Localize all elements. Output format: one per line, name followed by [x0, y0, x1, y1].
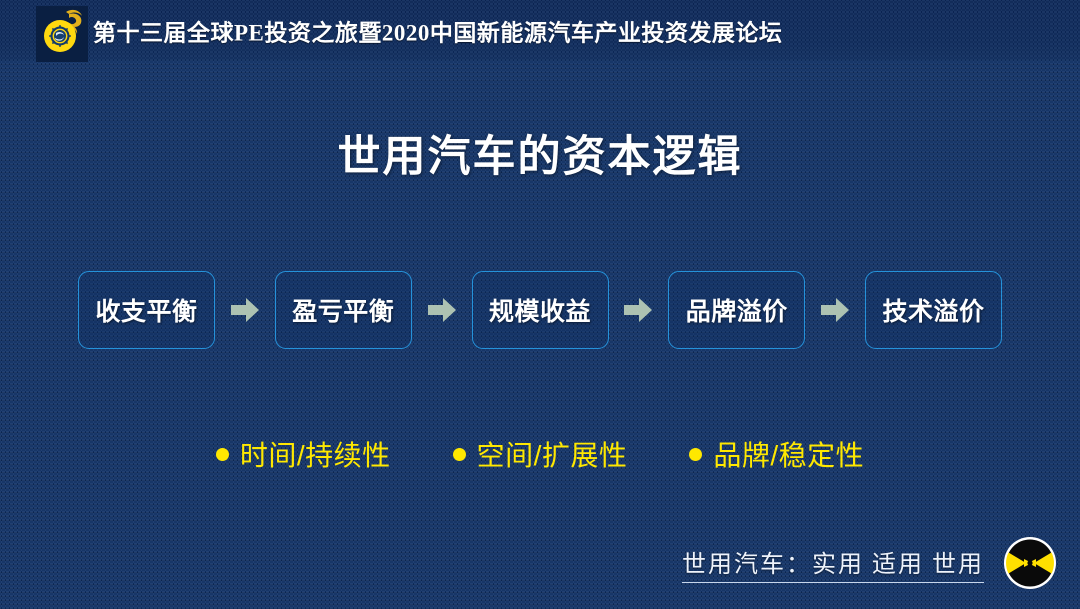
capital-logic-flow: 收支平衡 盈亏平衡 规模收益 品牌溢价 技术溢价 — [78, 271, 1002, 349]
right-block-arrow-icon — [819, 295, 851, 325]
dragon-sun-logo-icon — [36, 6, 88, 62]
slide-canvas: 第十三届全球PE投资之旅暨2020中国新能源汽车产业投资发展论坛 世用汽车的资本… — [0, 0, 1080, 609]
slide-footer: 世用汽车：实用 适用 世用 — [682, 535, 1058, 591]
bullet-label: 品牌/稳定性 — [713, 434, 864, 474]
flow-step-label: 规模收益 — [489, 292, 591, 328]
flow-step-1[interactable]: 收支平衡 — [78, 271, 215, 349]
conference-title: 第十三届全球PE投资之旅暨2020中国新能源汽车产业投资发展论坛 — [93, 13, 782, 47]
company-tagline: 世用汽车：实用 适用 世用 — [682, 544, 984, 583]
right-block-arrow-icon — [229, 295, 261, 325]
right-block-arrow-icon — [622, 295, 654, 325]
bullet-label: 时间/持续性 — [240, 434, 391, 474]
flow-step-2[interactable]: 盈亏平衡 — [275, 271, 412, 349]
dimension-bullets: 时间/持续性 空间/扩展性 品牌/稳定性 — [0, 434, 1080, 474]
bullet-item-1: 时间/持续性 — [216, 434, 391, 474]
bullet-dot-icon — [216, 448, 229, 461]
flow-step-label: 品牌溢价 — [686, 292, 788, 328]
flow-step-3[interactable]: 规模收益 — [472, 271, 609, 349]
bullet-label: 空间/扩展性 — [477, 434, 628, 474]
shiyong-radial-mark-icon — [1002, 535, 1058, 591]
flow-step-4[interactable]: 品牌溢价 — [668, 271, 805, 349]
bullet-dot-icon — [689, 448, 702, 461]
bullet-item-2: 空间/扩展性 — [453, 434, 628, 474]
flow-step-label: 收支平衡 — [95, 292, 197, 328]
bullet-dot-icon — [453, 448, 466, 461]
bullet-item-3: 品牌/稳定性 — [689, 434, 864, 474]
slide-header-band: 第十三届全球PE投资之旅暨2020中国新能源汽车产业投资发展论坛 — [0, 0, 1080, 61]
flow-step-label: 技术溢价 — [882, 292, 984, 328]
flow-step-label: 盈亏平衡 — [292, 292, 394, 328]
slide-title: 世用汽车的资本逻辑 — [0, 122, 1080, 184]
right-block-arrow-icon — [426, 295, 458, 325]
flow-step-5[interactable]: 技术溢价 — [865, 271, 1002, 349]
conference-logo — [36, 6, 88, 62]
